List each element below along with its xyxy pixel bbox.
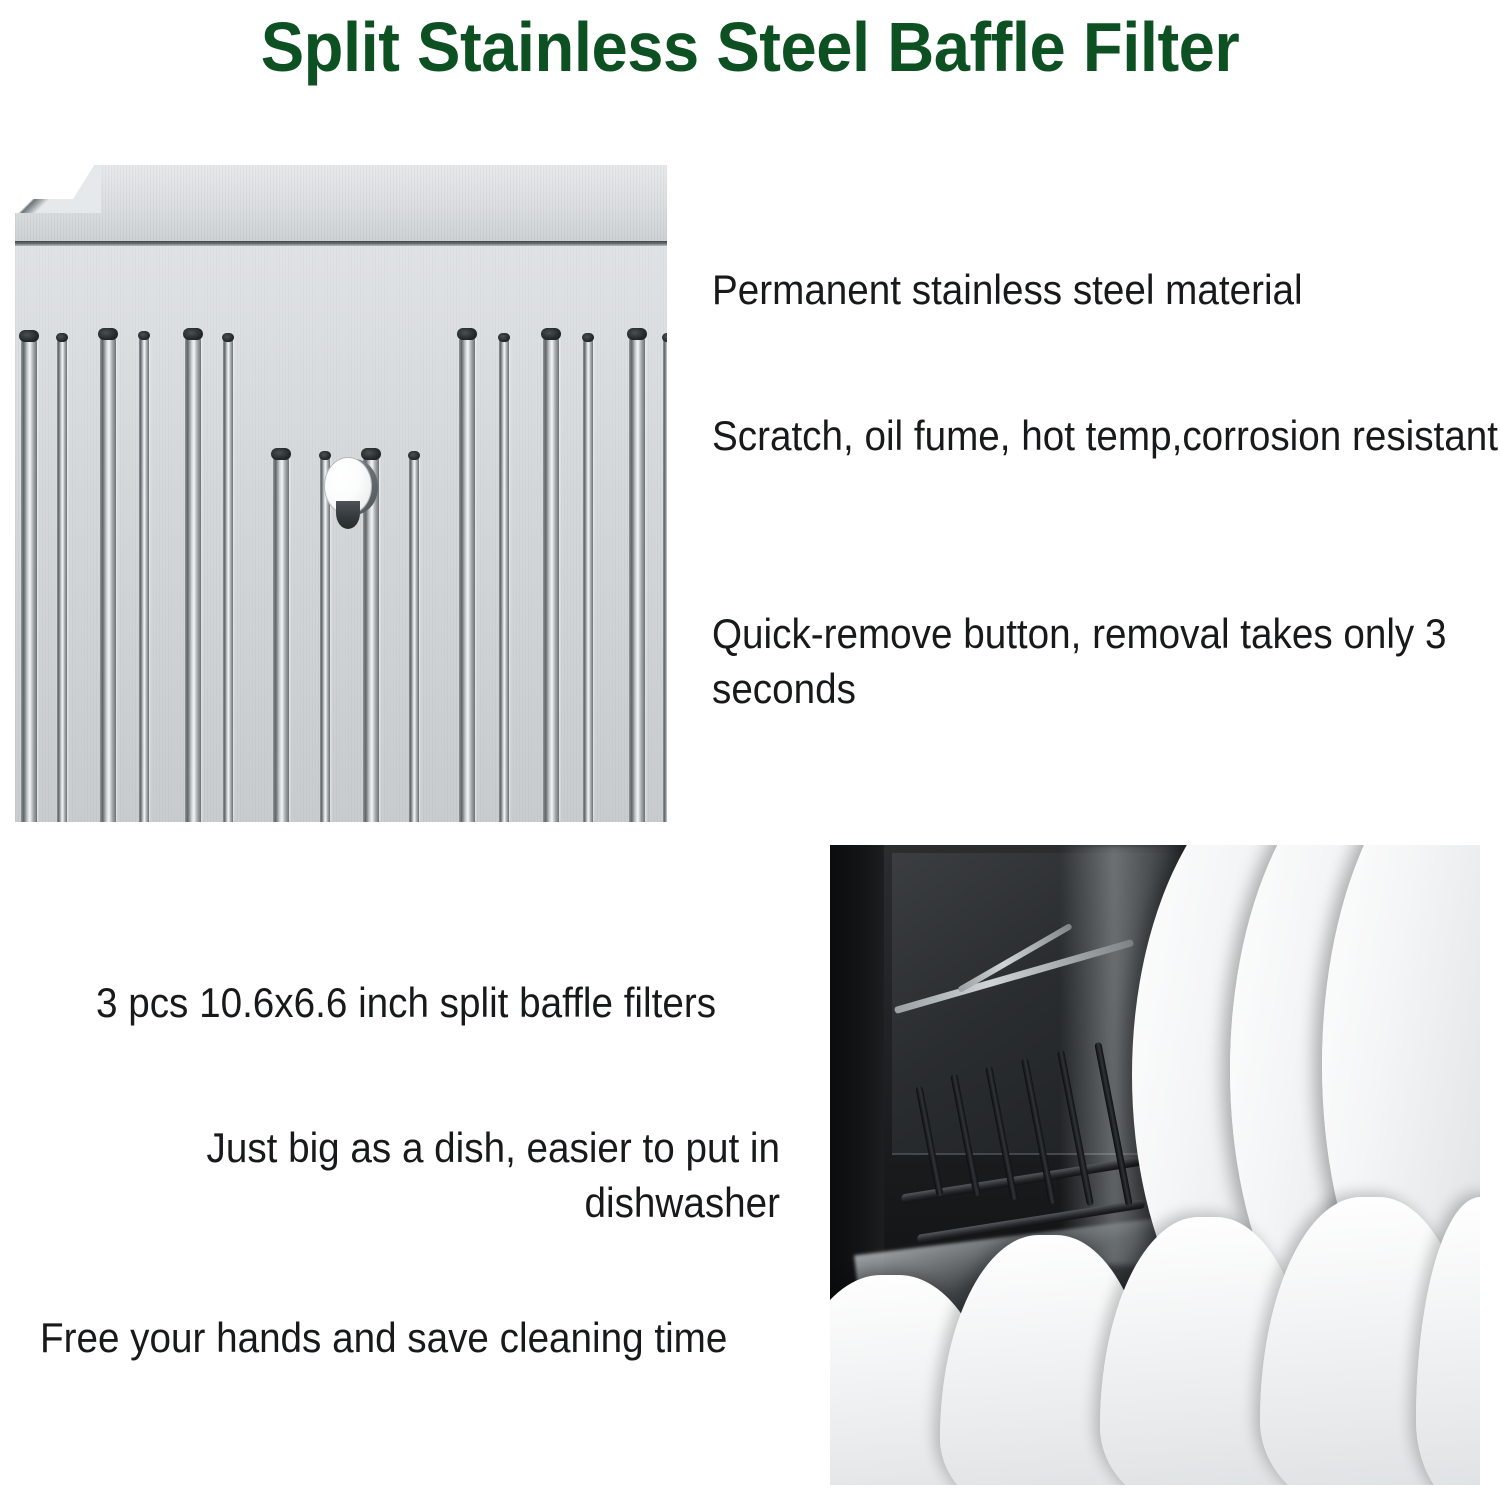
- baffle-slot: [499, 337, 509, 822]
- baffle-slot: [185, 333, 201, 822]
- dishwasher-photo: [830, 845, 1480, 1485]
- infographic-page: Split Stainless Steel Baffle Filter: [0, 0, 1500, 1500]
- baffle-slot-short: [409, 455, 419, 822]
- baffle-slot: [629, 333, 645, 822]
- filter-top-rail: [15, 165, 667, 241]
- baffle-slot: [543, 333, 559, 822]
- feature-dishwasher-fit: Just big as a dish, easier to put in dis…: [118, 1120, 780, 1230]
- feature-material: Permanent stainless steel material: [712, 262, 1500, 317]
- baffle-slot: [139, 335, 149, 822]
- rail-seam-line: [15, 241, 667, 246]
- baffle-slot: [21, 335, 37, 822]
- feature-resistance: Scratch, oil fume, hot temp,corrosion re…: [712, 408, 1500, 463]
- feature-quick-remove: Quick-remove button, removal takes only …: [712, 606, 1500, 716]
- baffle-slot: [663, 337, 667, 822]
- baffle-slot-short: [273, 453, 289, 822]
- baffle-slot: [57, 337, 67, 822]
- feature-hands-free: Free your hands and save cleaning time: [40, 1310, 758, 1365]
- baffle-slot: [583, 337, 593, 822]
- baffle-slot: [459, 333, 475, 822]
- page-title: Split Stainless Steel Baffle Filter: [53, 4, 1448, 90]
- feature-quantity-size: 3 pcs 10.6x6.6 inch split baffle filters: [96, 975, 795, 1030]
- baffle-slot: [223, 337, 233, 822]
- baffle-slot: [100, 333, 116, 822]
- baffle-filter-photo: [15, 165, 667, 822]
- quick-remove-button[interactable]: [322, 455, 378, 521]
